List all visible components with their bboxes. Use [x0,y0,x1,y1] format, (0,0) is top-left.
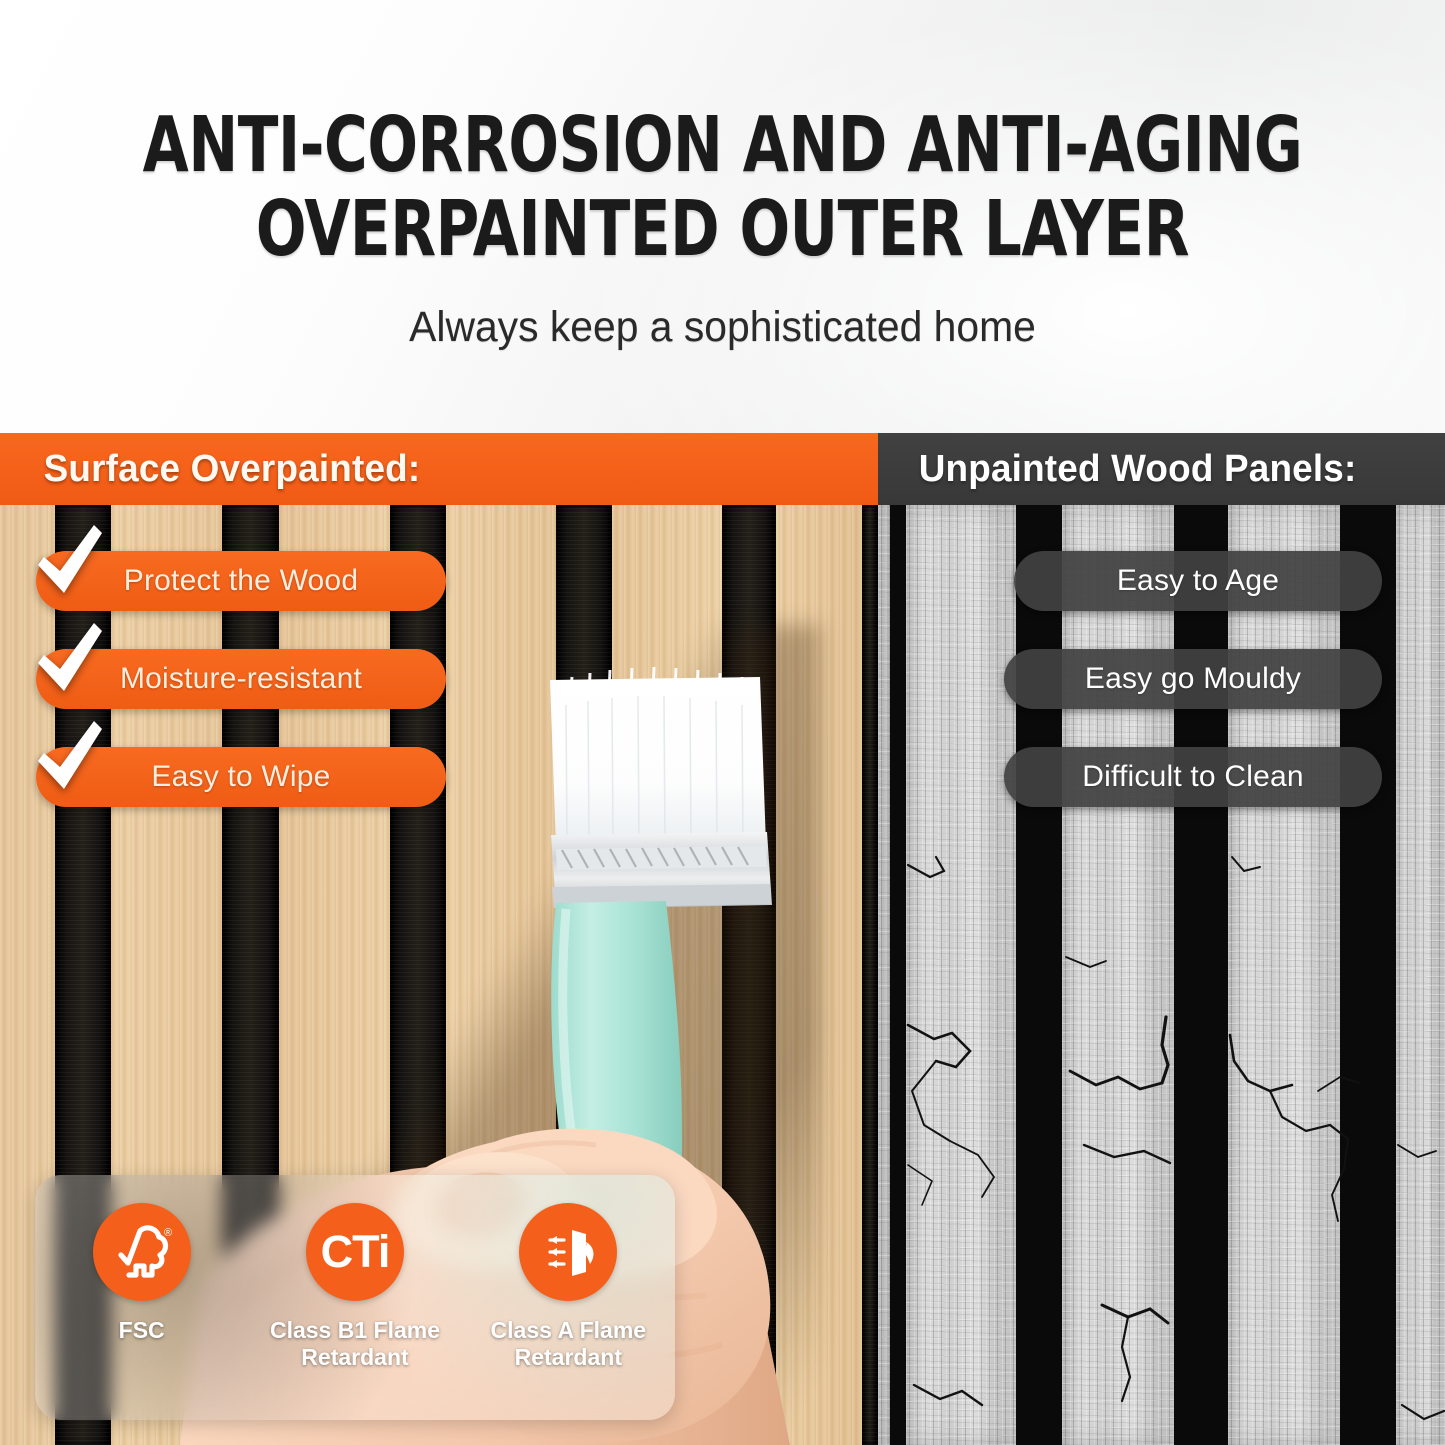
right-banner-label: Unpainted Wood Panels: [878,448,1356,491]
badge-label: FSC [52,1317,232,1344]
badge-label: Class A Flame Retardant [478,1317,658,1371]
gray-slat [1062,505,1174,1445]
badge-label: Class B1 Flame Retardant [265,1317,445,1371]
certification-badge-class-a[interactable]: Class A Flame Retardant [478,1203,658,1371]
gray-slat [1396,505,1445,1445]
feature-label: Protect the Wood [124,564,358,598]
certification-strip: ® FSC CTi Class B1 Flame Retardant [35,1175,675,1420]
check-icon [24,717,110,803]
check-icon [24,521,110,607]
badge-label-line-2: Retardant [478,1344,658,1371]
drawback-pill[interactable]: Easy go Mouldy [1004,649,1382,709]
comparison-right-panel: Unpainted Wood Panels: Easy to Age Easy … [878,433,1445,1445]
svg-text:®: ® [164,1227,172,1239]
drawback-label: Difficult to Clean [1082,760,1303,794]
headline-line-2: OVERPAINTED OUTER LAYER [101,188,1344,272]
check-icon [24,619,110,705]
drawback-pill[interactable]: Easy to Age [1014,551,1382,611]
feature-pill[interactable]: Easy to Wipe [36,747,446,807]
feature-label: Easy to Wipe [151,760,330,794]
page-subtitle: Always keep a sophisticated home [36,303,1409,352]
gray-slat [878,505,890,1445]
left-banner-label: Surface Overpainted: [0,448,420,491]
feature-pill[interactable]: Moisture-resistant [36,649,446,709]
headline-line-1: ANTI-CORROSION AND ANTI-AGING [143,101,1303,190]
slat-groove [862,505,878,1445]
feature-label: Moisture-resistant [120,662,362,696]
drawback-label: Easy go Mouldy [1085,662,1301,696]
left-banner: Surface Overpainted: [0,433,878,505]
drawback-pill[interactable]: Difficult to Clean [1004,747,1382,807]
gray-slat [906,505,1016,1445]
certification-badge-fsc[interactable]: ® FSC [52,1203,232,1344]
badge-label-line-1: Class A Flame [478,1317,658,1344]
drawback-label: Easy to Age [1117,564,1279,598]
header-section: ANTI-CORROSION AND ANTI-AGING OVERPAINTE… [0,0,1445,433]
weathered-slat-wall [878,505,1445,1445]
certification-badge-cti[interactable]: CTi Class B1 Flame Retardant [265,1203,445,1371]
feature-pill[interactable]: Protect the Wood [36,551,446,611]
slat-groove [722,505,776,1445]
badge-label-line-1: Class B1 Flame [265,1317,445,1344]
page-title: ANTI-CORROSION AND ANTI-AGING OVERPAINTE… [101,104,1344,272]
flame-panel-icon [519,1203,617,1301]
product-feature-image: ANTI-CORROSION AND ANTI-AGING OVERPAINTE… [0,0,1445,1445]
cti-icon: CTi [306,1203,404,1301]
fsc-tree-icon: ® [93,1203,191,1301]
gray-slat [1228,505,1340,1445]
badge-label-line-2: Retardant [265,1344,445,1371]
right-banner: Unpainted Wood Panels: [878,433,1445,505]
